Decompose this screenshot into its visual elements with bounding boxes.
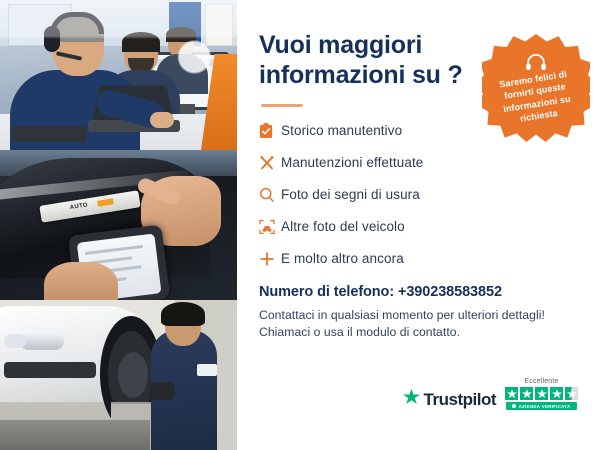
magnifier-icon [259, 187, 281, 203]
verified-label: AZIENDA VERIFICATA [518, 404, 570, 409]
paint-inspection-photo: AUTO [0, 150, 237, 300]
office-window [0, 0, 237, 46]
mechanic-glove [149, 382, 175, 400]
list-item: Manutenzioni effettuate [259, 153, 578, 172]
car-headlight [20, 332, 64, 350]
list-item-label: Storico manutentivo [281, 123, 402, 138]
monitor-stand [177, 104, 195, 114]
star-half [565, 387, 578, 400]
list-item-label: E molto altro ancora [281, 251, 404, 266]
desktop-monitor [137, 52, 229, 110]
agent-arm [94, 87, 168, 131]
inspector-hand-lower [44, 262, 118, 300]
contact-subtext: Contattaci in qualsiasi momento per ulte… [259, 307, 578, 342]
wall-poster [169, 2, 201, 46]
car-grille [4, 362, 96, 378]
trustpilot-logo: Trustpilot [403, 389, 496, 410]
second-agent-hair [122, 32, 160, 52]
list-item: Altre foto del veicolo [259, 217, 578, 236]
star-filled [505, 387, 518, 400]
agent-laptop-base [88, 120, 180, 132]
wrench-cross-icon [259, 155, 281, 171]
background-person-head [168, 30, 194, 58]
content-panel: Vuoi maggiori informazioni su ? Saremo f… [237, 0, 600, 450]
trustpilot-wordmark: Trustpilot [424, 390, 496, 410]
second-agent-body [104, 70, 180, 126]
agent-headset-earpiece [44, 26, 60, 52]
photo-column: AUTO [0, 0, 237, 450]
car-headlight-inner [4, 334, 26, 348]
background-person-hair [166, 27, 196, 42]
star-filled [535, 387, 548, 400]
trustpilot-rating: Eccellente [505, 378, 578, 410]
agent-headset-mic [56, 51, 82, 60]
verified-check-icon [512, 404, 516, 408]
phone-number-line: Numero di telefono: +390238583852 [259, 284, 578, 300]
list-item-label: Foto dei segni di usura [281, 187, 420, 202]
trustpilot-star-icon [403, 389, 420, 410]
list-item-label: Altre foto del veicolo [281, 219, 405, 234]
background-person-body [156, 54, 208, 94]
star-filled [520, 387, 533, 400]
trustpilot-widget[interactable]: Trustpilot Eccellente [403, 378, 578, 410]
page-title: Vuoi maggiori informazioni su ? [259, 30, 474, 90]
contact-subtext-line-2: Chiamaci o usa il modulo di contatto. [259, 324, 578, 341]
headset-icon [525, 54, 547, 70]
star-filled [550, 387, 563, 400]
badge-text: Saremo felici di fornirti queste informa… [479, 65, 593, 131]
car-scan-icon [259, 219, 281, 235]
agent-hair [52, 16, 104, 42]
agent-laptop-screen [92, 86, 174, 124]
mechanic-hair [161, 302, 205, 326]
desk-keyboard [12, 126, 86, 142]
list-item: E molto altro ancora [259, 249, 578, 268]
feature-list: Storico manutentivo Manutenzioni effettu… [259, 121, 578, 268]
list-item: Foto dei segni di usura [259, 185, 578, 204]
call-center-photo [0, 0, 237, 150]
advertisement-banner: AUTO [0, 0, 600, 450]
plus-icon [259, 251, 281, 267]
mechanic-lift-photo [0, 300, 237, 450]
star-rating [505, 387, 578, 400]
second-agent-head [124, 36, 158, 74]
agent-body [10, 70, 140, 150]
mechanic-uniform-patch [197, 364, 217, 376]
clipboard-check-icon [259, 123, 281, 139]
agent-head [52, 18, 104, 76]
title-divider [261, 104, 303, 107]
contact-subtext-line-1: Contattaci in qualsiasi momento per ulte… [259, 307, 578, 324]
office-desk [0, 114, 237, 150]
rating-label: Eccellente [524, 378, 558, 385]
car-wheel-rim [118, 352, 148, 398]
agent-hand [150, 112, 174, 128]
agent-headset-band [50, 12, 104, 34]
list-item-label: Manutenzioni effettuate [281, 155, 423, 170]
verified-company-badge: AZIENDA VERIFICATA [506, 402, 577, 410]
second-agent-beard [128, 58, 154, 74]
vehicle-lift-platform [0, 420, 150, 450]
wall-notice [205, 4, 233, 46]
orange-banner-edge [201, 54, 237, 150]
